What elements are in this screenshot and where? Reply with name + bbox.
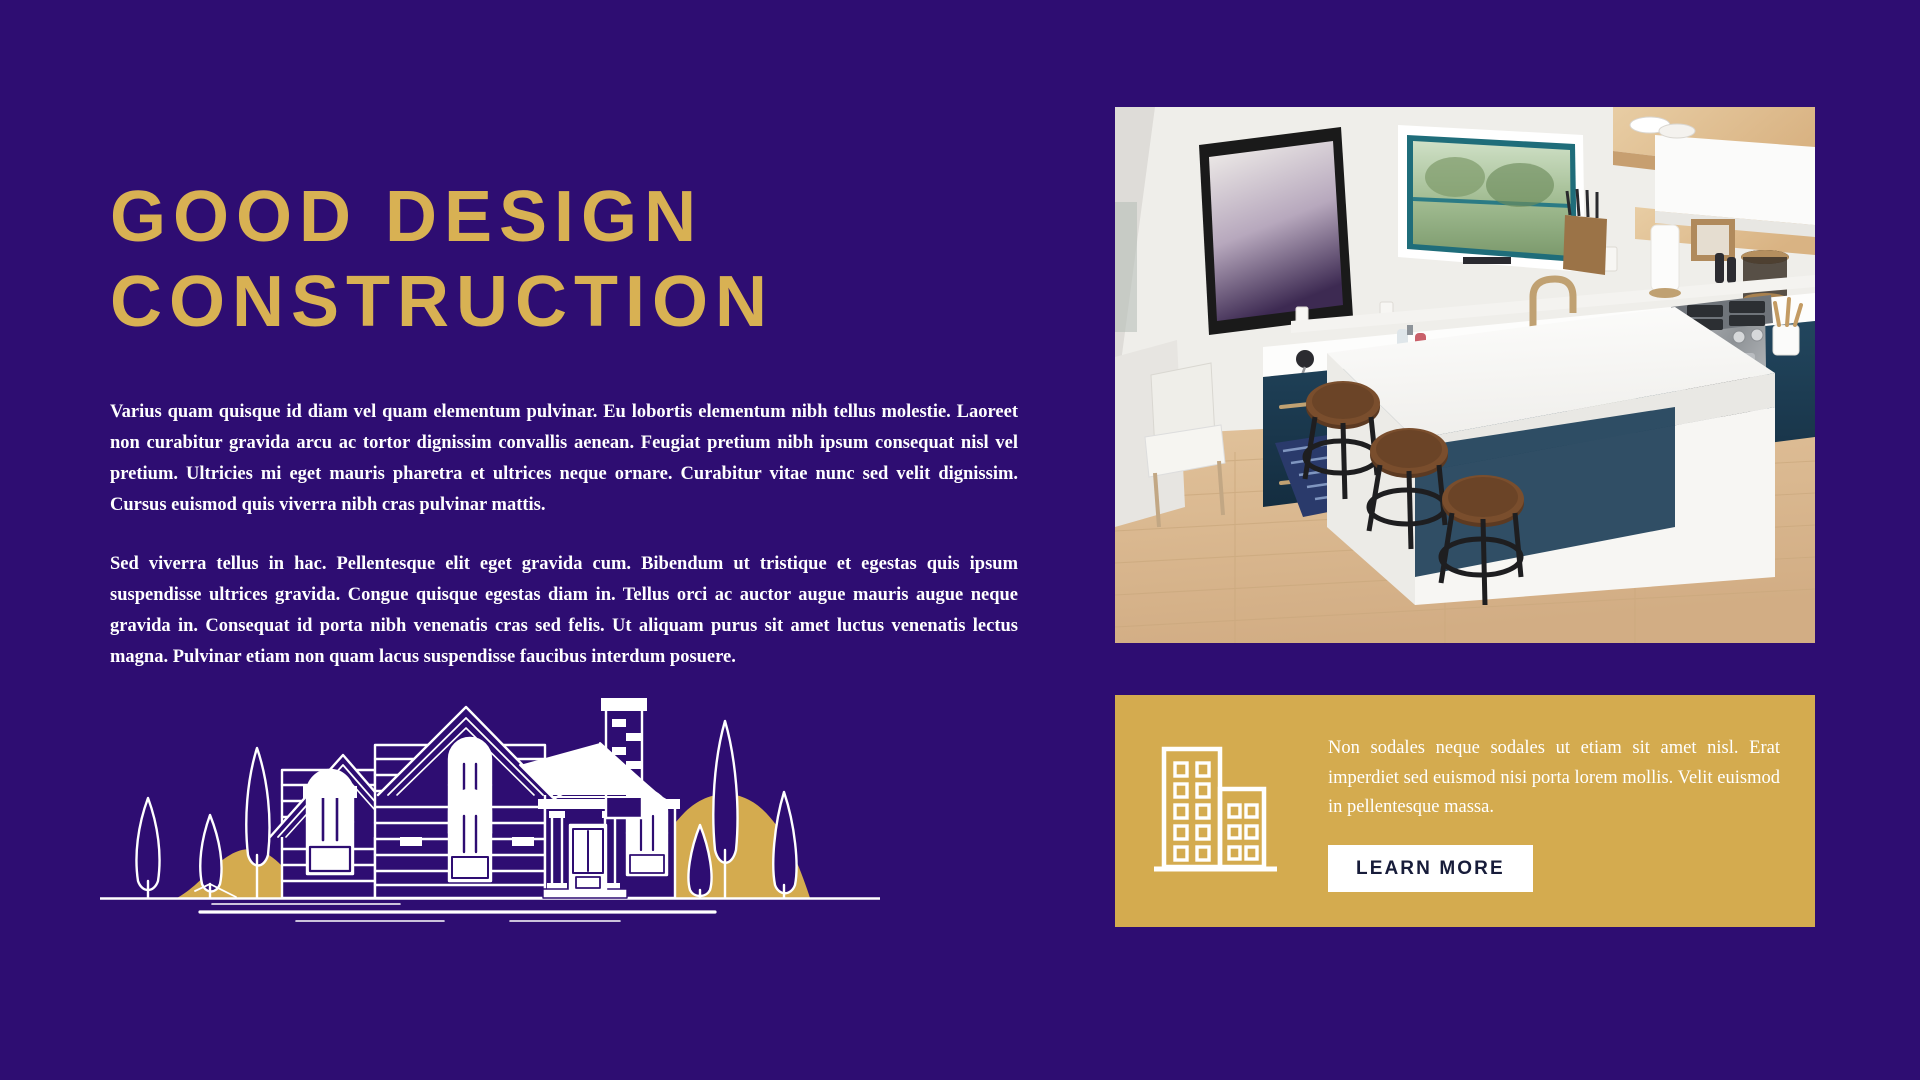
photo-paper-towel [1649,225,1681,298]
cypress-tree-right-3 [773,792,796,898]
house-front-door [570,825,606,893]
page-title-line-1: GOOD DESIGN [110,175,1020,260]
body-copy: Varius quam quisque id diam vel quam ele… [110,397,1018,673]
cta-description: Non sodales neque sodales ut etiam sit a… [1328,734,1780,824]
learn-more-button[interactable]: Learn More [1328,845,1533,892]
photo-small-frame [1691,219,1735,261]
body-paragraph-1: Varius quam quisque id diam vel quam ele… [110,397,1018,521]
house-line-art-illustration [100,685,880,925]
house-window-center [449,790,491,881]
buildings-icon [1151,741,1286,881]
photo-framed-art [1199,127,1353,335]
page-title: GOOD DESIGN CONSTRUCTION [110,175,1020,345]
cta-card: Non sodales neque sodales ut etiam sit a… [1115,695,1815,927]
kitchen-interior-photo [1115,107,1815,643]
house-window-left [303,770,357,874]
photo-window [1398,125,1585,272]
cypress-tree-left-1 [136,798,159,898]
cta-body: Non sodales neque sodales ut etiam sit a… [1328,730,1780,893]
page-title-line-2: CONSTRUCTION [110,260,1020,345]
left-content-column: GOOD DESIGN CONSTRUCTION Varius quam qui… [110,175,1020,673]
slide-root: GOOD DESIGN CONSTRUCTION Varius quam qui… [0,0,1920,1080]
body-paragraph-2: Sed viverra tellus in hac. Pellentesque … [110,549,1018,673]
